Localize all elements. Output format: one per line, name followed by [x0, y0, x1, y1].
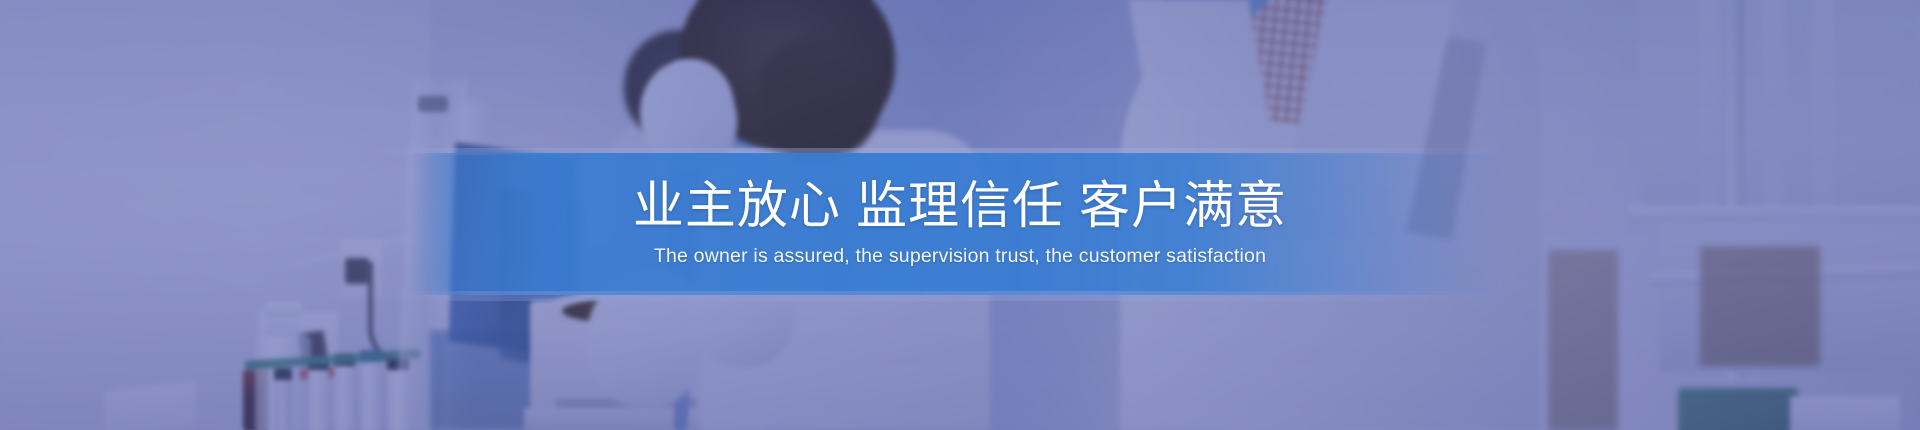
caption-text-group: 业主放心 监理信任 客户满意 The owner is assured, the…: [0, 153, 1920, 295]
banner-headline: 业主放心 监理信任 客户满意: [633, 179, 1287, 232]
hero-banner: 业主放心 监理信任 客户满意 The owner is assured, the…: [0, 0, 1920, 430]
banner-subheadline: The owner is assured, the supervision tr…: [654, 245, 1266, 268]
